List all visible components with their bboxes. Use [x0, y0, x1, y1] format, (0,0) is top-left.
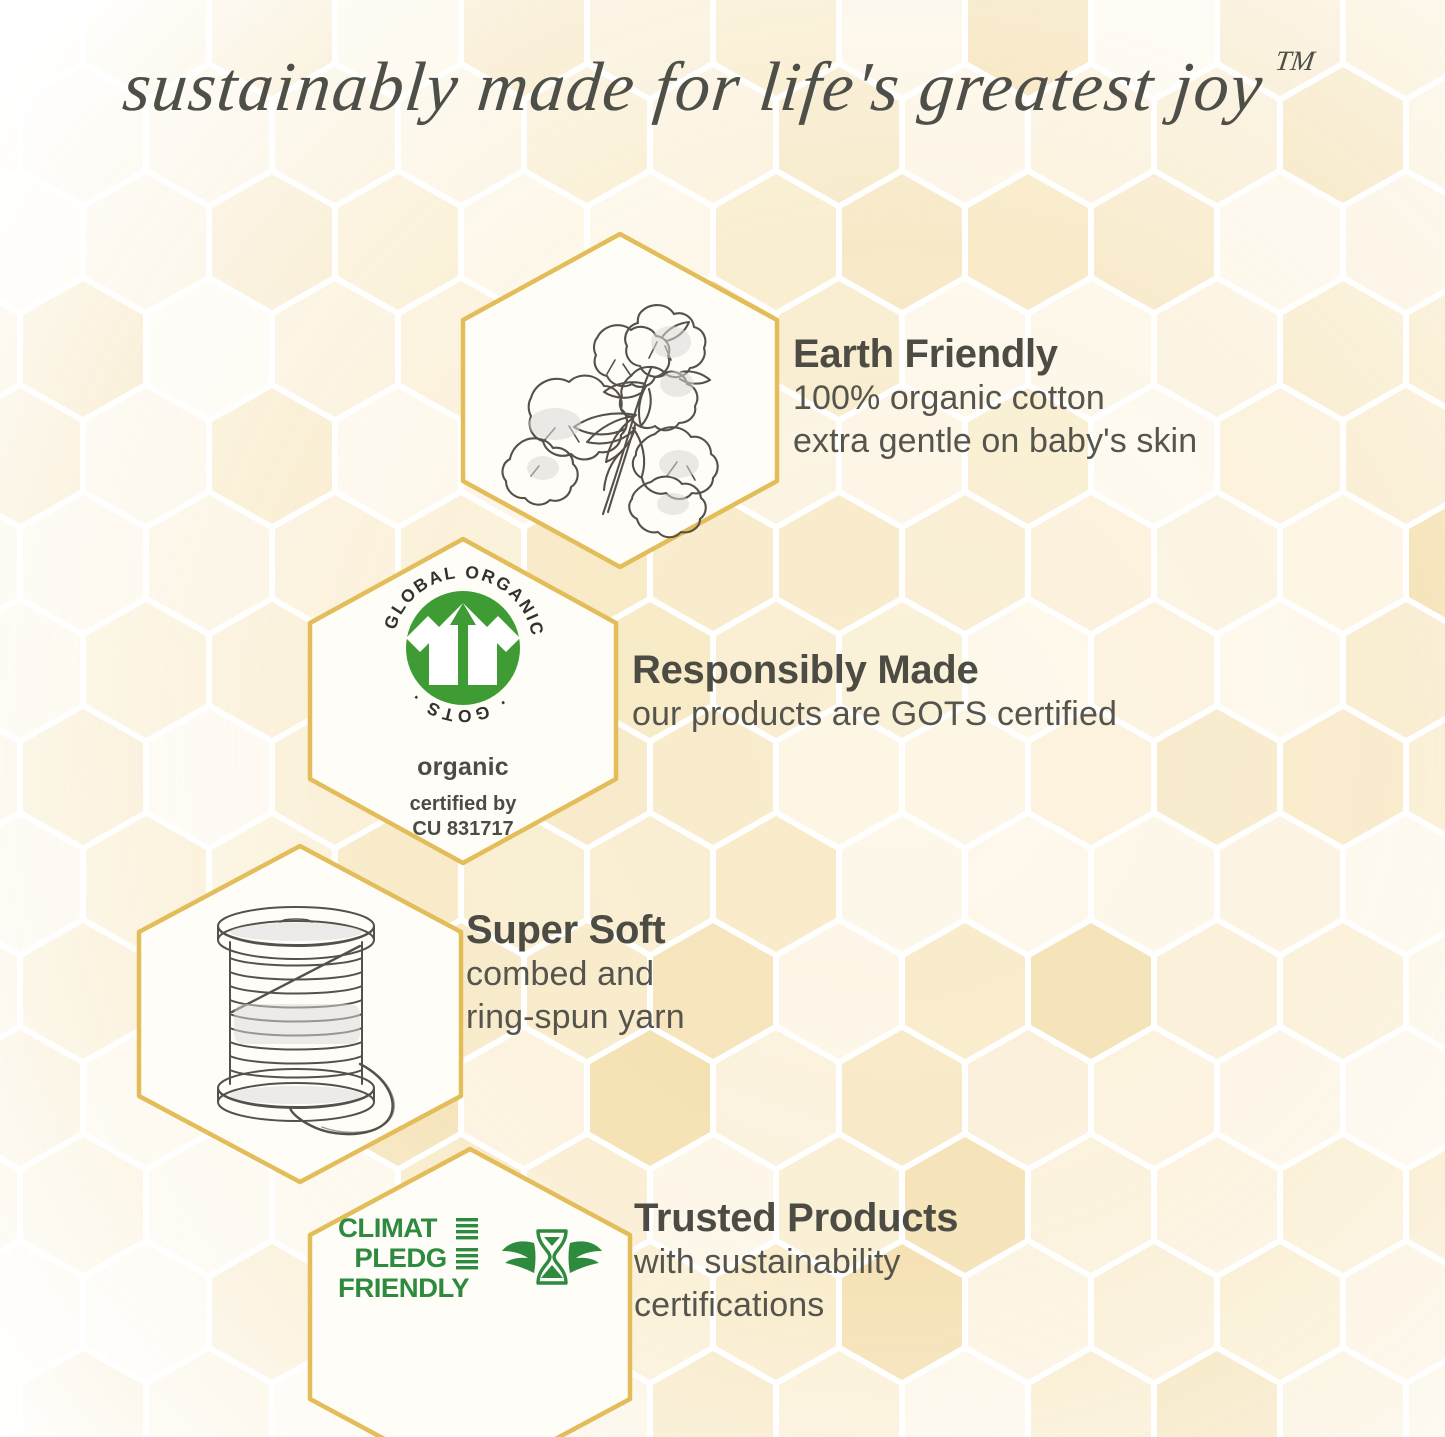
certifier-code-text: CU 831717 — [412, 818, 513, 840]
gots-seal-icon: GLOBAL ORGANIC TEXTILE STANDARD · GOTS · — [370, 555, 556, 741]
feature-subtitle-line: 100% organic cotton — [793, 377, 1197, 421]
feature-text-trusted-products: Trusted Products with sustainability cer… — [634, 1196, 958, 1328]
hex-card-trusted-products: CLIMAT PLEDG FRIENDLY — [303, 1143, 637, 1437]
hex-card-super-soft — [133, 840, 468, 1188]
feature-text-super-soft: Super Soft combed and ring-spun yarn — [466, 908, 685, 1040]
feature-title: Responsibly Made — [632, 648, 1117, 693]
feature-title: Earth Friendly — [793, 332, 1197, 377]
climate-pledge-friendly-badge: CLIMAT PLEDG FRIENDLY — [336, 1211, 604, 1303]
feature-subtitle-line: with sustainability — [634, 1241, 958, 1285]
svg-text:TM: TM — [1273, 46, 1318, 77]
feature-text-earth-friendly: Earth Friendly 100% organic cotton extra… — [793, 332, 1197, 464]
gots-certification-badge: GLOBAL ORGANIC TEXTILE STANDARD · GOTS ·… — [370, 555, 556, 842]
thread-spool-icon — [133, 840, 468, 1188]
hex-card-earth-friendly — [455, 228, 785, 573]
climate-pledge-wordmark: CLIMAT PLEDG FRIENDLY — [336, 1211, 486, 1303]
gots-certified-by-label: certified by CU 831717 — [410, 792, 517, 842]
hex-card-responsibly-made: GLOBAL ORGANIC TEXTILE STANDARD · GOTS ·… — [303, 533, 623, 869]
feature-subtitle-line: combed and — [466, 953, 685, 997]
winged-hourglass-icon — [500, 1217, 604, 1297]
feature-subtitle-line: extra gentle on baby's skin — [793, 420, 1197, 464]
gots-organic-label: organic — [417, 753, 509, 782]
feature-subtitle-line: certifications — [634, 1284, 958, 1328]
svg-text:PLEDG: PLEDG — [354, 1242, 446, 1273]
feature-subtitle-line: our products are GOTS certified — [632, 693, 1117, 737]
svg-text:FRIENDLY: FRIENDLY — [338, 1272, 469, 1303]
svg-text:CLIMAT: CLIMAT — [338, 1212, 438, 1243]
feature-text-responsibly-made: Responsibly Made our products are GOTS c… — [632, 648, 1117, 736]
headline: sustainably made for life's greatest joy… — [0, 36, 1445, 146]
svg-text:sustainably made for life's gr: sustainably made for life's greatest joy — [119, 48, 1267, 126]
feature-title: Trusted Products — [634, 1196, 958, 1241]
cotton-plant-icon — [455, 228, 785, 573]
feature-subtitle-line: ring-spun yarn — [466, 996, 685, 1040]
feature-title: Super Soft — [466, 908, 685, 953]
certified-by-text: certified by — [410, 793, 517, 815]
sustainability-infographic: sustainably made for life's greatest joy… — [0, 0, 1445, 1437]
